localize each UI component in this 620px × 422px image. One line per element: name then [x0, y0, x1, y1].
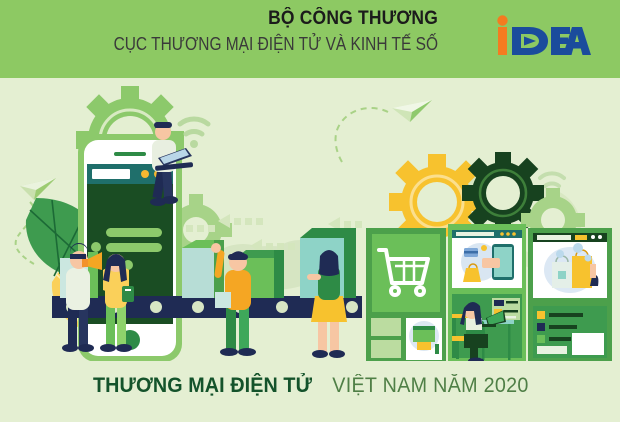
panel-block-2	[371, 340, 401, 358]
phone-dot-1	[141, 170, 149, 178]
browser-window-payment	[452, 230, 522, 288]
phone-speaker	[114, 152, 146, 156]
shopping-cart-panel	[366, 228, 446, 363]
phone-search-box	[92, 169, 130, 179]
header-text-block: BỘ CÔNG THƯƠNG CỤC THƯƠNG MẠI ĐIỆN TỬ VÀ…	[0, 8, 450, 56]
wifi-dot	[190, 140, 198, 148]
illustration-svg	[0, 78, 620, 363]
footer-title-block: THƯƠNG MẠI ĐIỆN TỬVIỆT NAM NĂM 2020	[0, 374, 620, 398]
middle-panel	[448, 224, 526, 363]
poster-root: BỘ CÔNG THƯƠNG CỤC THƯƠNG MẠI ĐIỆN TỬ VÀ…	[0, 0, 620, 422]
ministry-title: BỘ CÔNG THƯƠNG	[35, 8, 438, 30]
phone-content-bar-2	[106, 243, 162, 252]
footer-title-regular: VIỆT NAM NĂM 2020	[332, 374, 528, 398]
header-bar: BỘ CÔNG THƯƠNG CỤC THƯƠNG MẠI ĐIỆN TỬ VÀ…	[0, 0, 620, 78]
department-title: CỤC THƯƠNG MẠI ĐIỆN TỬ VÀ KINH TẾ SỐ	[61, 32, 438, 56]
storefront-thumbnail	[406, 318, 442, 360]
idea-logo	[496, 14, 592, 58]
right-panel	[528, 228, 612, 363]
panel-block-1	[371, 318, 401, 336]
idea-logo-icon	[496, 14, 592, 58]
illustration-scene	[0, 78, 620, 363]
footer-title-bold: THƯƠNG MẠI ĐIỆN TỬ	[92, 374, 311, 398]
phone-bullet-1	[91, 242, 101, 252]
phone-content-bar-1	[106, 228, 162, 237]
browser-window-shopping-bags	[533, 233, 607, 298]
